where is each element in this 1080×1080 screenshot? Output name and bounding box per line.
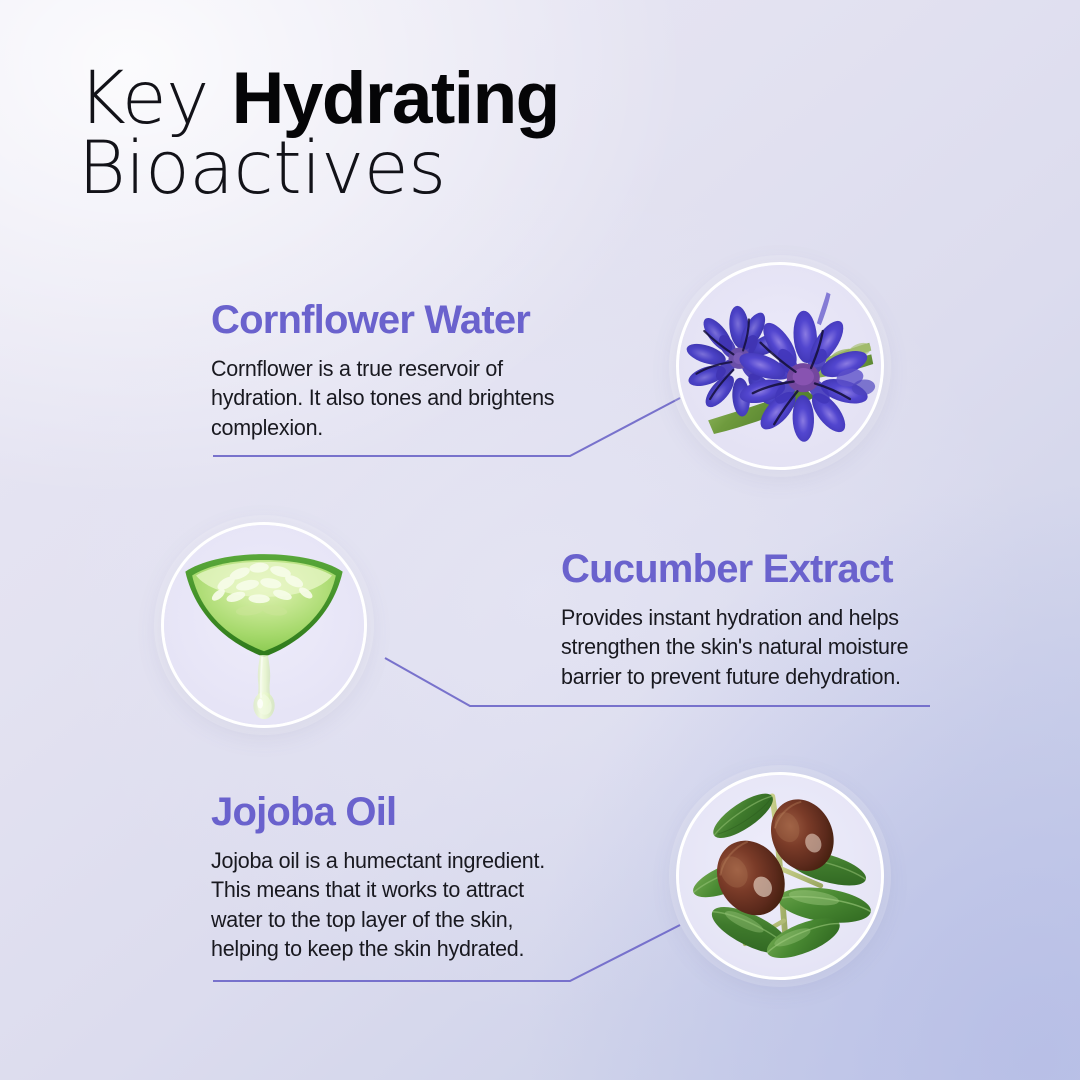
title-line-1: Key Hydrating <box>78 64 559 134</box>
ingredient-image-cornflower <box>676 262 884 470</box>
ingredient-image-jojoba <box>676 772 884 980</box>
cucumber-image-frame <box>164 525 364 725</box>
ingredient-block-cucumber: Cucumber Extract Provides instant hydrat… <box>561 548 961 691</box>
jojoba-berries-leaves-photo <box>679 775 881 977</box>
title-line-2: Bioactives <box>78 134 559 204</box>
infographic-poster: Key Hydrating Bioactives Cornflower Wate… <box>0 0 1080 1080</box>
ingredient-body-cucumber: Provides instant hydration and helps str… <box>561 603 939 691</box>
page-title: Key Hydrating Bioactives <box>78 64 559 204</box>
ingredient-heading-cucumber: Cucumber Extract <box>561 548 961 590</box>
title-word-bioactives: Bioactives <box>78 126 446 211</box>
jojoba-image-frame <box>679 775 881 977</box>
ingredient-heading-jojoba: Jojoba Oil <box>211 791 611 833</box>
ingredient-block-jojoba: Jojoba Oil Jojoba oil is a humectant ing… <box>211 791 611 963</box>
cornflower-flowers-photo <box>679 265 881 467</box>
ingredient-body-cornflower: Cornflower is a true reservoir of hydrat… <box>211 354 572 442</box>
ingredient-image-cucumber <box>161 522 367 728</box>
cucumber-slice-drip-photo <box>164 525 364 725</box>
ingredient-body-jojoba: Jojoba oil is a humectant ingredient. Th… <box>211 846 564 963</box>
cornflower-image-frame <box>679 265 881 467</box>
ingredient-heading-cornflower: Cornflower Water <box>211 299 611 341</box>
ingredient-block-cornflower: Cornflower Water Cornflower is a true re… <box>211 299 611 442</box>
